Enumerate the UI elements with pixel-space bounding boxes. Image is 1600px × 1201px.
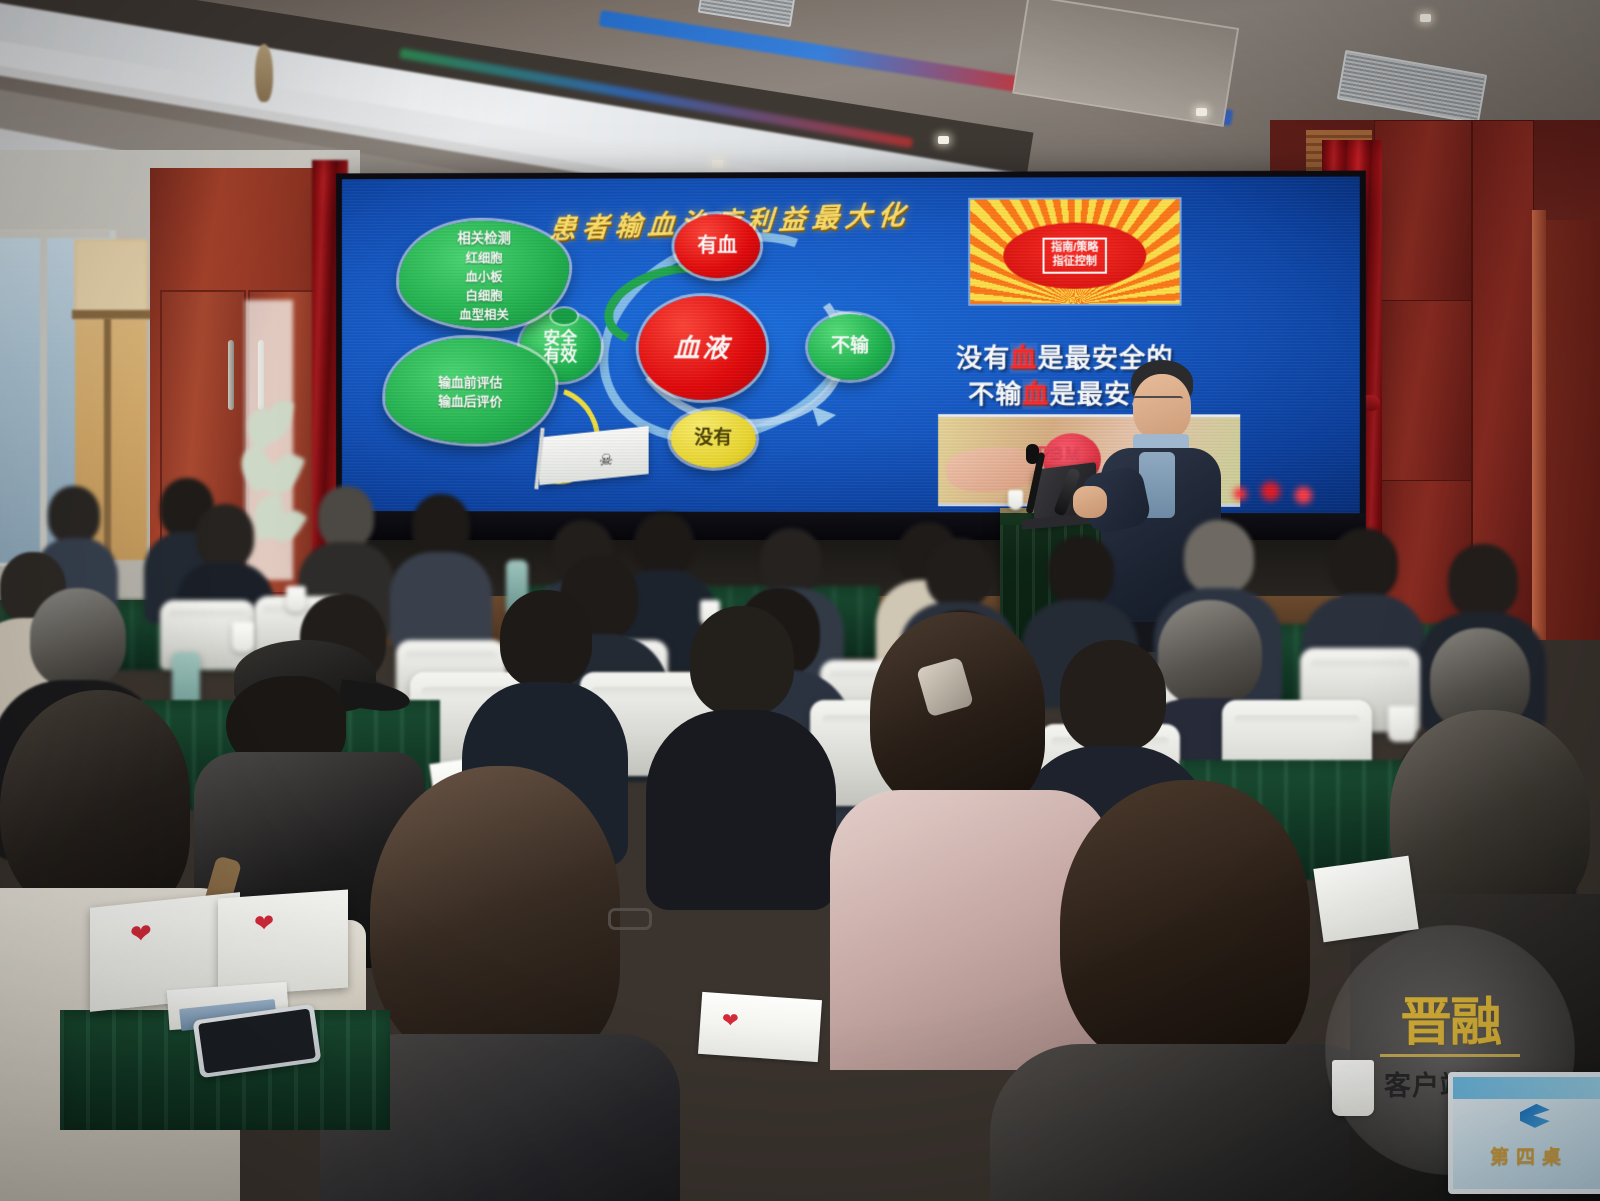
paper-cup: [1388, 706, 1416, 742]
speaker-glasses: [1133, 396, 1183, 407]
guideline-banner[interactable]: 指南/策略 指征控制: [968, 197, 1181, 306]
node-left-label-2: 有效: [543, 347, 577, 364]
cloud-tests-item-2: 白细胞: [466, 285, 503, 304]
table-number-text: 第四桌: [1453, 1142, 1600, 1169]
node-right-label: 不输: [831, 337, 869, 356]
node-bottom-label: 没有: [694, 429, 732, 448]
node-top[interactable]: 有血: [674, 214, 760, 278]
paper-cup: [1332, 1060, 1374, 1116]
cloud-assessment-line-1: 输血前评估: [438, 372, 502, 391]
potted-plant: [236, 400, 308, 590]
paper-cup: [232, 622, 254, 652]
bag-logo: ❤: [254, 909, 274, 939]
podium-cup: [1008, 490, 1023, 510]
paper-cup: [286, 586, 306, 612]
conference-photo: 患者输血治疗利益最大化 有血 血液 安全 有效 不输 没有: [0, 0, 1600, 1201]
hair: [870, 612, 1045, 812]
node-center[interactable]: 血液: [639, 296, 766, 400]
bag-logo: ❤: [130, 917, 152, 950]
cloud-tests-heading: 相关检测: [457, 226, 510, 246]
node-center-label: 血液: [673, 335, 731, 361]
hair: [1390, 710, 1590, 920]
slogan-2-b: 血: [1022, 379, 1049, 409]
slogan-1-a: 没有: [956, 343, 1010, 373]
guideline-banner-text: 指南/策略 指征控制: [1043, 238, 1106, 274]
hair: [1060, 780, 1310, 1070]
speaker-hand: [1073, 486, 1107, 518]
node-top-label: 有血: [697, 236, 737, 256]
handout-paper: [1313, 856, 1418, 943]
cloud-tests[interactable]: 相关检测 红细胞 血小板 白细胞 血型相关: [399, 221, 569, 329]
cloud-tests-tail: [551, 308, 577, 324]
slogan-1-b: 血: [1010, 343, 1037, 373]
surrender-flag: ☠: [539, 426, 648, 485]
guideline-banner-oval: 指南/策略 指征控制: [1004, 222, 1146, 289]
gift-bag-2: ❤: [218, 889, 348, 996]
card-logo-icon: [1520, 1104, 1550, 1128]
hanging-ornament: [255, 44, 273, 102]
node-left-label-1: 安全: [543, 330, 577, 347]
node-bottom[interactable]: 没有: [671, 410, 757, 468]
cycle-arrow-head-bottom: [806, 406, 836, 431]
ceiling-vent-left: [698, 0, 796, 27]
cloud-assessment-line-2: 输血后评价: [438, 391, 502, 410]
podium-mic-head: [1026, 444, 1039, 464]
down-jacket: [990, 1044, 1390, 1201]
slide-bottom-red-text: [1216, 481, 1338, 507]
guideline-banner-line-1: 指南/策略: [1051, 242, 1098, 256]
skull-icon: ☠: [599, 450, 613, 471]
hair: [370, 766, 620, 1066]
door-handle-left[interactable]: [228, 340, 234, 410]
speaker-head: [1133, 374, 1191, 440]
handout-paper: [698, 992, 822, 1062]
slogan-2-a: 不输: [968, 379, 1022, 409]
cloud-tests-item-0: 红细胞: [466, 247, 503, 266]
ceiling-vent-right: [1337, 50, 1487, 124]
node-right[interactable]: 不输: [808, 314, 892, 380]
paper-logo: ❤: [722, 1008, 739, 1033]
guideline-banner-line-2: 指征控制: [1051, 256, 1098, 270]
hair: [0, 690, 190, 920]
cloud-tests-item-1: 血小板: [466, 266, 503, 285]
card-header-band: [1453, 1077, 1600, 1099]
glasses: [608, 908, 652, 930]
table-number-card: 第四桌: [1448, 1072, 1600, 1194]
cloud-tests-item-3: 血型相关: [459, 304, 508, 323]
